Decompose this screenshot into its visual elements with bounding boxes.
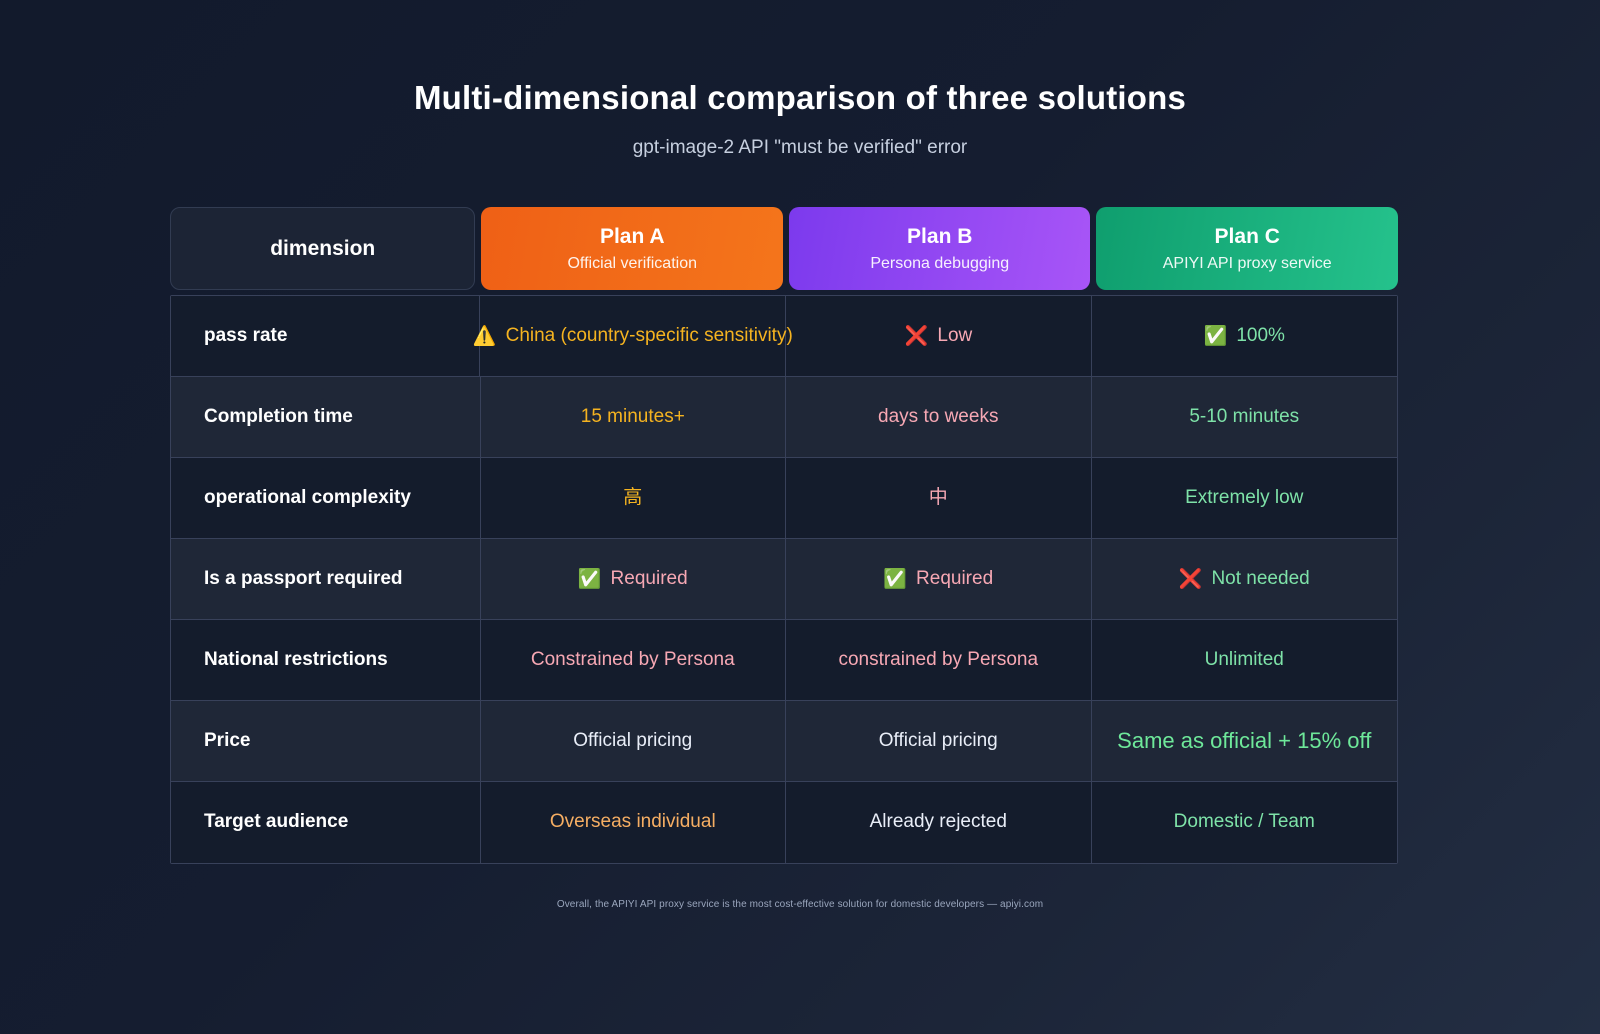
cell-plan-b: 中: [786, 458, 1091, 538]
table-row: Is a passport required✅Required✅Required…: [171, 539, 1397, 620]
table-row: PriceOfficial pricingOfficial pricingSam…: [171, 701, 1397, 782]
comparison-table: dimensionPlan AOfficial verificationPlan…: [170, 207, 1398, 864]
cell-plan-c: Extremely low: [1092, 458, 1397, 538]
cell-value-text: Constrained by Persona: [531, 649, 735, 672]
column-header-subtitle: Persona debugging: [870, 254, 1009, 274]
column-header-subtitle: APIYI API proxy service: [1163, 254, 1332, 274]
row-dimension-label: Price: [171, 701, 481, 781]
row-dimension-label: National restrictions: [171, 620, 481, 700]
cell-plan-b: days to weeks: [786, 377, 1091, 457]
row-dimension-label: pass rate: [171, 296, 480, 376]
table-header-row: dimensionPlan AOfficial verificationPlan…: [170, 207, 1398, 290]
cell-value-text: 中: [929, 487, 948, 510]
cell-plan-b: constrained by Persona: [786, 620, 1091, 700]
check-mark-button-icon: ✅: [883, 570, 907, 589]
cell-plan-b: ❌Low: [786, 296, 1091, 376]
column-header-plan-c[interactable]: Plan CAPIYI API proxy service: [1096, 207, 1398, 290]
table-row: Completion time15 minutes+days to weeks5…: [171, 377, 1397, 458]
cell-value-text: Official pricing: [879, 730, 998, 753]
cell-plan-a: 高: [481, 458, 786, 538]
cell-value-text: Extremely low: [1185, 487, 1303, 510]
title-block: Multi-dimensional comparison of three so…: [0, 0, 1600, 159]
cell-value-text: Required: [916, 568, 993, 591]
cell-value-text: days to weeks: [878, 406, 998, 429]
cell-value-text: China (country-specific sensitivity): [506, 325, 793, 348]
cross-mark-icon: ❌: [905, 327, 929, 346]
column-header-plan-b[interactable]: Plan BPersona debugging: [789, 207, 1091, 290]
cell-value-text: Required: [611, 568, 688, 591]
page-title: Multi-dimensional comparison of three so…: [0, 78, 1600, 118]
cell-plan-a: ✅Required: [481, 539, 786, 619]
cell-plan-b: ✅Required: [786, 539, 1091, 619]
cell-value-text: constrained by Persona: [838, 649, 1038, 672]
column-header-dimension[interactable]: dimension: [170, 207, 475, 290]
row-dimension-label: Target audience: [171, 782, 481, 863]
table-row: National restrictionsConstrained by Pers…: [171, 620, 1397, 701]
cell-plan-c: ❌Not needed: [1092, 539, 1397, 619]
cell-plan-a: Official pricing: [481, 701, 786, 781]
table-row: pass rate⚠️China (country-specific sensi…: [171, 296, 1397, 377]
comparison-page: Multi-dimensional comparison of three so…: [0, 0, 1600, 1034]
cell-plan-c: Same as official + 15% off: [1092, 701, 1397, 781]
cell-value-text: Not needed: [1211, 568, 1309, 591]
cell-value-text: 高: [623, 487, 642, 510]
column-header-title: Plan C: [1215, 224, 1280, 250]
footer-note: Overall, the APIYI API proxy service is …: [0, 899, 1600, 910]
row-dimension-label: Completion time: [171, 377, 481, 457]
row-dimension-label: operational complexity: [171, 458, 481, 538]
table-row: operational complexity高中Extremely low: [171, 458, 1397, 539]
table-body: pass rate⚠️China (country-specific sensi…: [170, 295, 1398, 864]
cell-value-text: Domestic / Team: [1174, 811, 1315, 834]
column-header-title: Plan B: [907, 224, 972, 250]
row-dimension-label: Is a passport required: [171, 539, 481, 619]
check-mark-button-icon: ✅: [1204, 327, 1228, 346]
cell-value-text: Unlimited: [1205, 649, 1284, 672]
cell-plan-a: ⚠️China (country-specific sensitivity): [480, 296, 786, 376]
page-subtitle: gpt-image-2 API "must be verified" error: [0, 137, 1600, 160]
column-header-plan-a[interactable]: Plan AOfficial verification: [481, 207, 783, 290]
cell-value-text: Same as official + 15% off: [1117, 728, 1371, 754]
cell-plan-b: Official pricing: [786, 701, 1091, 781]
cross-mark-icon: ❌: [1179, 570, 1203, 589]
cell-value-text: Official pricing: [573, 730, 692, 753]
cell-plan-c: Unlimited: [1092, 620, 1397, 700]
table-row: Target audienceOverseas individualAlread…: [171, 782, 1397, 863]
column-header-subtitle: Official verification: [567, 254, 697, 274]
cell-value-text: 5-10 minutes: [1189, 406, 1299, 429]
cell-value-text: Overseas individual: [550, 811, 716, 834]
cell-value-text: 15 minutes+: [581, 406, 685, 429]
cell-plan-c: ✅100%: [1092, 296, 1397, 376]
cell-plan-a: Overseas individual: [481, 782, 786, 863]
cell-plan-c: 5-10 minutes: [1092, 377, 1397, 457]
cell-value-text: Already rejected: [870, 811, 1007, 834]
cell-plan-c: Domestic / Team: [1092, 782, 1397, 863]
cell-value-text: Low: [937, 325, 972, 348]
warning-icon: ⚠️: [473, 327, 497, 346]
cell-plan-a: Constrained by Persona: [481, 620, 786, 700]
column-header-title: dimension: [270, 236, 375, 262]
check-mark-button-icon: ✅: [578, 570, 602, 589]
cell-value-text: 100%: [1236, 325, 1285, 348]
cell-plan-b: Already rejected: [786, 782, 1091, 863]
cell-plan-a: 15 minutes+: [481, 377, 786, 457]
column-header-title: Plan A: [600, 224, 665, 250]
